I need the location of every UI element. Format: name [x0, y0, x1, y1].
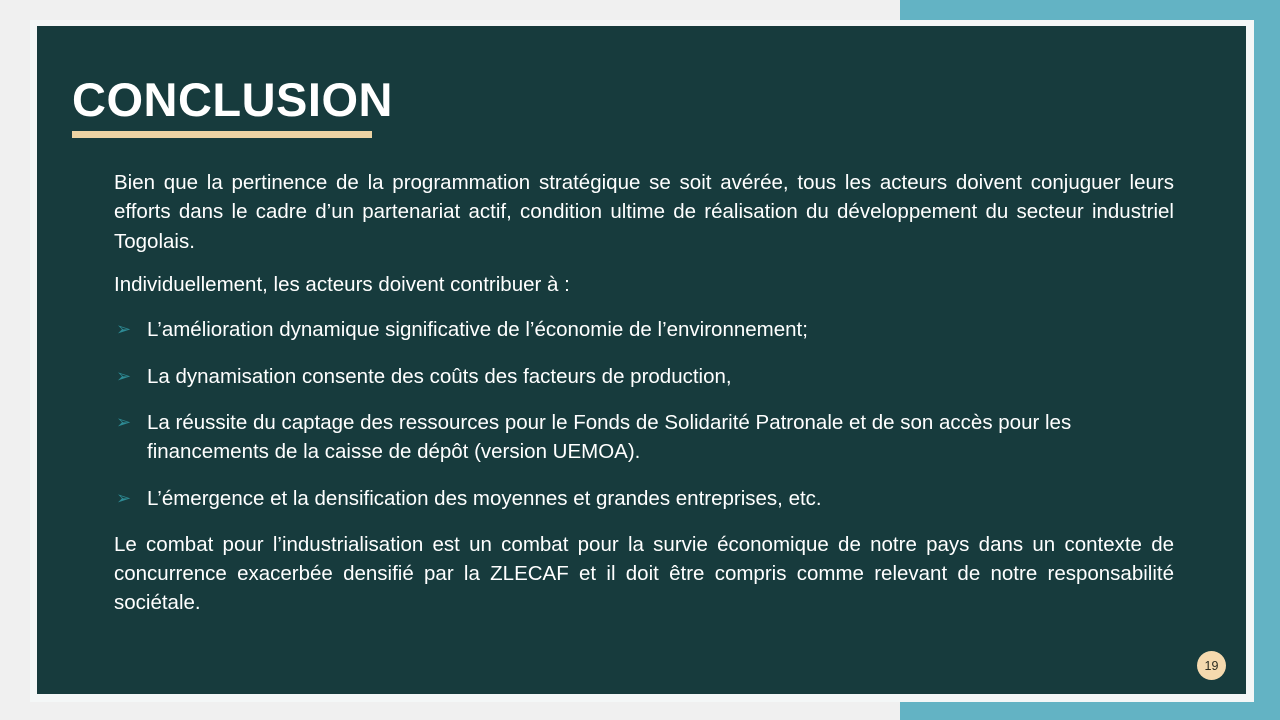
- title-underline-rule: [72, 131, 372, 138]
- closing-paragraph: Le combat pour l’industrialisation est u…: [114, 530, 1174, 618]
- list-item-label: L’émergence et la densification des moye…: [147, 487, 822, 510]
- arrow-bullet-icon: ➢: [116, 409, 131, 436]
- intro-paragraph: Bien que la pertinence de la programmati…: [114, 168, 1174, 256]
- list-item-label: La dynamisation consente des coûts des f…: [147, 365, 732, 388]
- arrow-bullet-icon: ➢: [116, 363, 131, 390]
- slide-content-panel: CONCLUSION Bien que la pertinence de la …: [37, 26, 1246, 694]
- list-item-label: La réussite du captage des ressources po…: [147, 411, 1071, 463]
- list-item-label: L’amélioration dynamique significative d…: [147, 318, 808, 341]
- list-item: ➢ La réussite du captage des ressources …: [114, 408, 1174, 467]
- page-number-badge: 19: [1197, 651, 1226, 680]
- lead-in-paragraph: Individuellement, les acteurs doivent co…: [114, 270, 1174, 299]
- arrow-bullet-icon: ➢: [116, 316, 131, 343]
- list-item: ➢ La dynamisation consente des coûts des…: [114, 362, 1174, 391]
- page-title: CONCLUSION: [72, 76, 393, 123]
- accent-bar-top-right: [900, 0, 1280, 20]
- list-item: ➢ L’amélioration dynamique significative…: [114, 315, 1174, 344]
- slide-body: Bien que la pertinence de la programmati…: [114, 168, 1174, 632]
- contribution-list: ➢ L’amélioration dynamique significative…: [114, 315, 1174, 513]
- slide-canvas: CONCLUSION Bien que la pertinence de la …: [0, 0, 1280, 720]
- list-item: ➢ L’émergence et la densification des mo…: [114, 484, 1174, 513]
- arrow-bullet-icon: ➢: [116, 485, 131, 512]
